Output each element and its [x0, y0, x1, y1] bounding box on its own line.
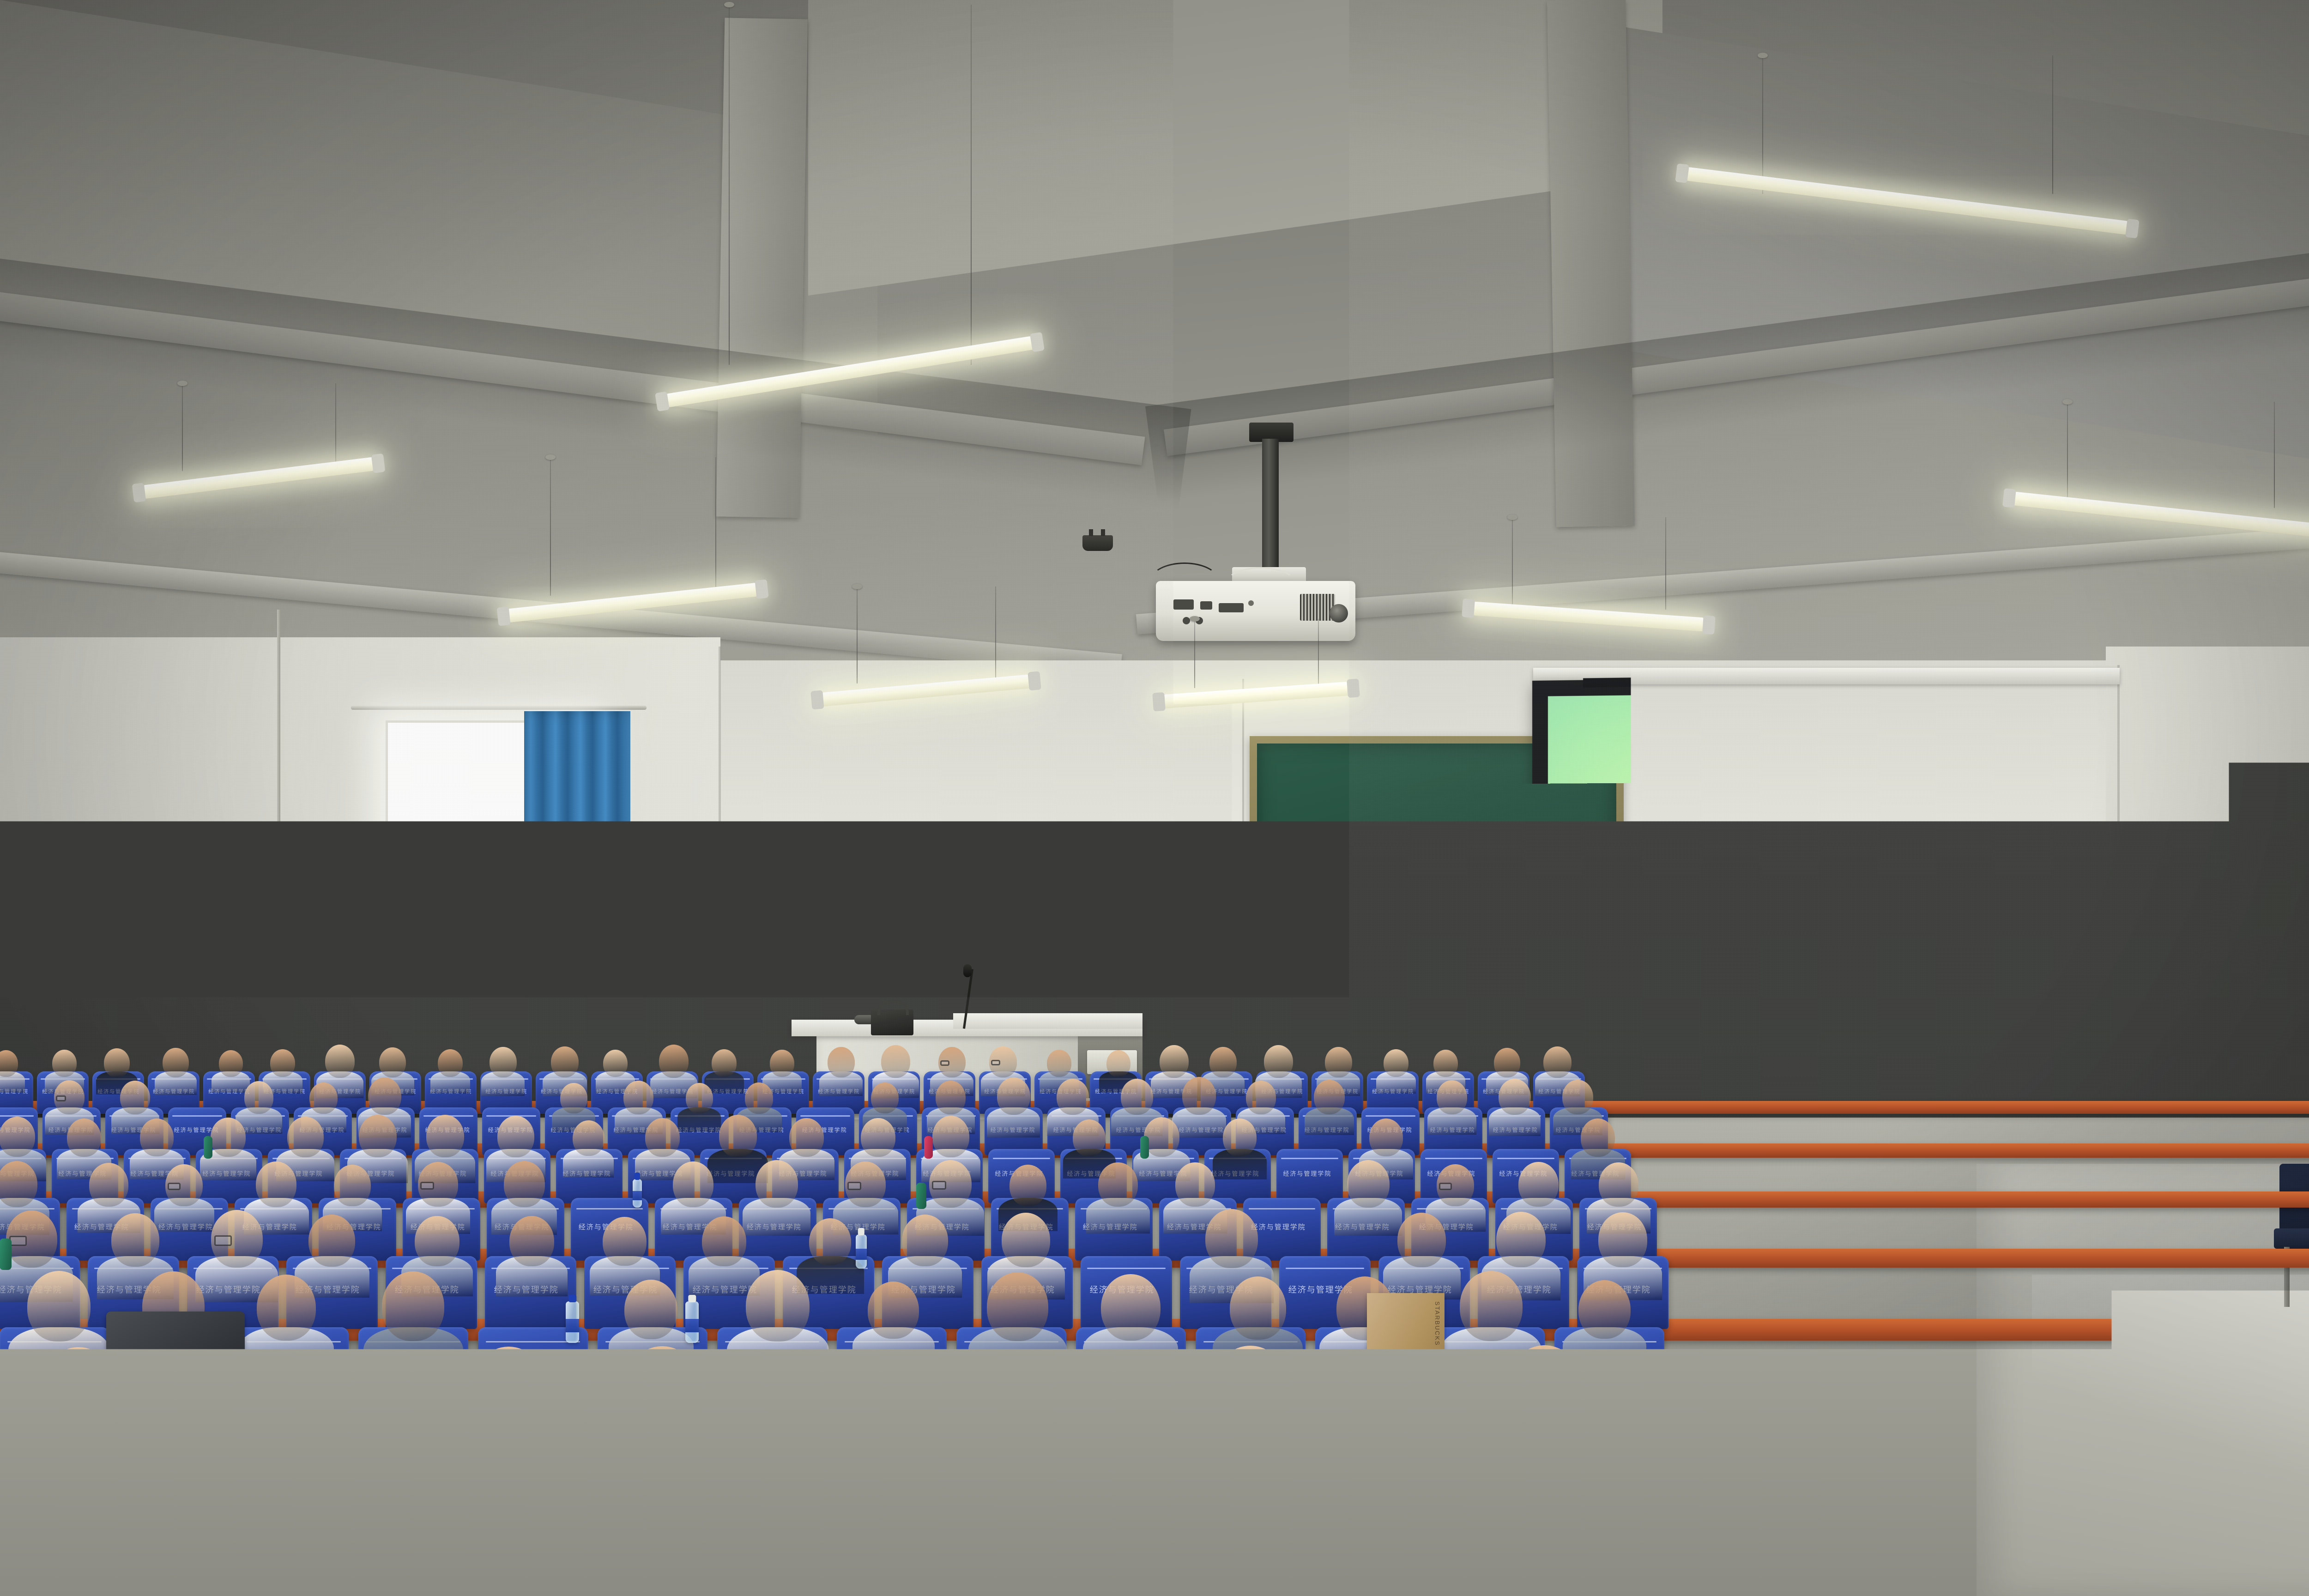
wall-pipe — [277, 610, 280, 910]
podium-control-unit[interactable] — [871, 1010, 913, 1035]
door-knob-icon[interactable] — [771, 953, 778, 961]
light-hanger-wire — [1512, 517, 1513, 610]
light-hanger-wire — [715, 457, 716, 596]
light-hanger-wire — [1318, 619, 1319, 688]
projector-drop-pole — [1262, 439, 1279, 573]
light-hanger-wire — [971, 5, 972, 365]
microphone-icon[interactable] — [963, 964, 972, 977]
door-knob-icon[interactable] — [709, 951, 716, 959]
notebook[interactable] — [368, 1560, 491, 1596]
ceiling-speaker-icon — [1082, 535, 1113, 551]
light-hanger-wire — [995, 586, 996, 683]
light-end-cap — [371, 453, 386, 473]
air-conditioner[interactable] — [272, 905, 359, 1044]
door-panel — [691, 885, 739, 940]
light-end-cap — [1028, 671, 1041, 690]
door-lever[interactable] — [719, 996, 734, 999]
tea-bottle[interactable]: 茶π — [1486, 1372, 1518, 1484]
ac-grille-icon — [276, 913, 354, 948]
light-ceiling-rosette — [724, 2, 734, 7]
smartphone[interactable] — [480, 1477, 555, 1590]
projector-jack — [1183, 617, 1190, 624]
door-transom-lattice — [687, 854, 808, 876]
light-hanger-wire — [2067, 402, 2068, 508]
notebook[interactable] — [1850, 1552, 1959, 1596]
door-center-gap — [747, 880, 748, 1046]
slide-title: 深入开展“两学一做” 塑造优秀共产党员 — [1548, 847, 2119, 885]
light-switch[interactable] — [833, 917, 848, 941]
classroom-door[interactable] — [680, 848, 814, 1046]
light-hanger-wire — [335, 383, 336, 471]
projector-power-cable — [1224, 567, 1298, 636]
door-lintel — [677, 842, 818, 850]
lecture-hall-photo: 深入开展“两学一做” 塑造优秀共产党员 郑州轻工业学院 思政部 郭晓先 — [0, 0, 2309, 1596]
light-end-cap — [655, 392, 670, 412]
notebook[interactable] — [1066, 1567, 1184, 1596]
light-hanger-wire — [1194, 619, 1195, 688]
chalk-piece[interactable] — [1467, 1025, 1479, 1029]
light-hanger-wire — [182, 383, 183, 471]
slide-subtitle: 郑州轻工业学院 思政部 郭晓先 — [1548, 980, 2119, 1004]
ac-energy-label — [332, 957, 346, 975]
light-ceiling-rosette — [852, 584, 862, 589]
projection-screen: 深入开展“两学一做” 塑造优秀共产党员 郑州轻工业学院 思政部 郭晓先 — [1532, 673, 2140, 1099]
light-end-cap — [1347, 678, 1360, 698]
window-curtain[interactable] — [524, 711, 630, 1044]
light-ceiling-rosette — [1507, 514, 1517, 520]
bottle-cap — [1493, 1365, 1512, 1372]
light-end-cap — [810, 690, 824, 710]
door-lever[interactable] — [750, 997, 764, 1001]
light-end-cap — [1675, 163, 1689, 183]
light-ceiling-rosette — [545, 454, 556, 460]
light-ceiling-rosette — [1190, 616, 1200, 622]
ac-side-panel — [255, 911, 272, 1044]
screen-mount-bracket — [1583, 677, 1653, 688]
light-ceiling-rosette — [177, 381, 187, 386]
light-end-cap — [2125, 218, 2140, 238]
light-end-cap — [755, 579, 768, 598]
tea-bottle-label: 茶π — [1486, 1419, 1518, 1455]
projector-cable — [1150, 562, 1219, 613]
light-end-cap — [1462, 598, 1475, 618]
light-hanger-wire — [1762, 55, 1763, 194]
audience-seating: 经济与管理学院经济与管理学院经济与管理学院经济与管理学院经济与管理学院经济与管理… — [0, 1053, 2309, 1596]
light-end-cap — [132, 483, 146, 502]
paper-bag-brand: STARBUCKS — [1434, 1301, 1441, 1346]
door-handle[interactable] — [748, 984, 753, 1010]
ac-display-panel[interactable] — [293, 959, 313, 991]
podium-desktop-upper — [953, 1013, 1142, 1029]
light-hanger-wire — [2052, 55, 2053, 194]
light-hanger-wire — [2274, 402, 2275, 508]
starbucks-paper-bag[interactable]: STARBUCKS — [1367, 1293, 1445, 1379]
light-ceiling-rosette — [2062, 399, 2073, 405]
light-hanger-wire — [729, 5, 730, 365]
notebook[interactable] — [137, 1554, 237, 1596]
light-hanger-wire — [550, 457, 551, 596]
light-end-cap — [1152, 692, 1166, 712]
curtain-rod — [351, 706, 647, 710]
backpack[interactable] — [106, 1312, 245, 1395]
ceiling-coffer-panel — [808, 0, 1662, 296]
foreground-props: STARBUCKS茶π — [0, 1053, 2309, 1596]
projector-lens-icon — [1330, 604, 1348, 623]
light-end-cap — [2002, 488, 2016, 508]
lecturer-hair — [990, 939, 1035, 966]
light-hanger-wire — [857, 586, 858, 683]
light-end-cap — [1702, 615, 1716, 635]
door-leaf-pair[interactable] — [680, 850, 814, 1046]
projection-screen-surface: 深入开展“两学一做” 塑造优秀共产党员 郑州轻工业学院 思政部 郭晓先 — [1548, 689, 2119, 1080]
phone-screen[interactable] — [483, 1482, 551, 1586]
screen-mount-bracket — [1890, 673, 1963, 683]
wall-seam — [1242, 679, 1244, 1067]
light-hanger-wire — [1665, 517, 1666, 610]
light-end-cap — [497, 606, 511, 626]
door-panel — [691, 948, 739, 1040]
door-panel — [754, 885, 803, 940]
